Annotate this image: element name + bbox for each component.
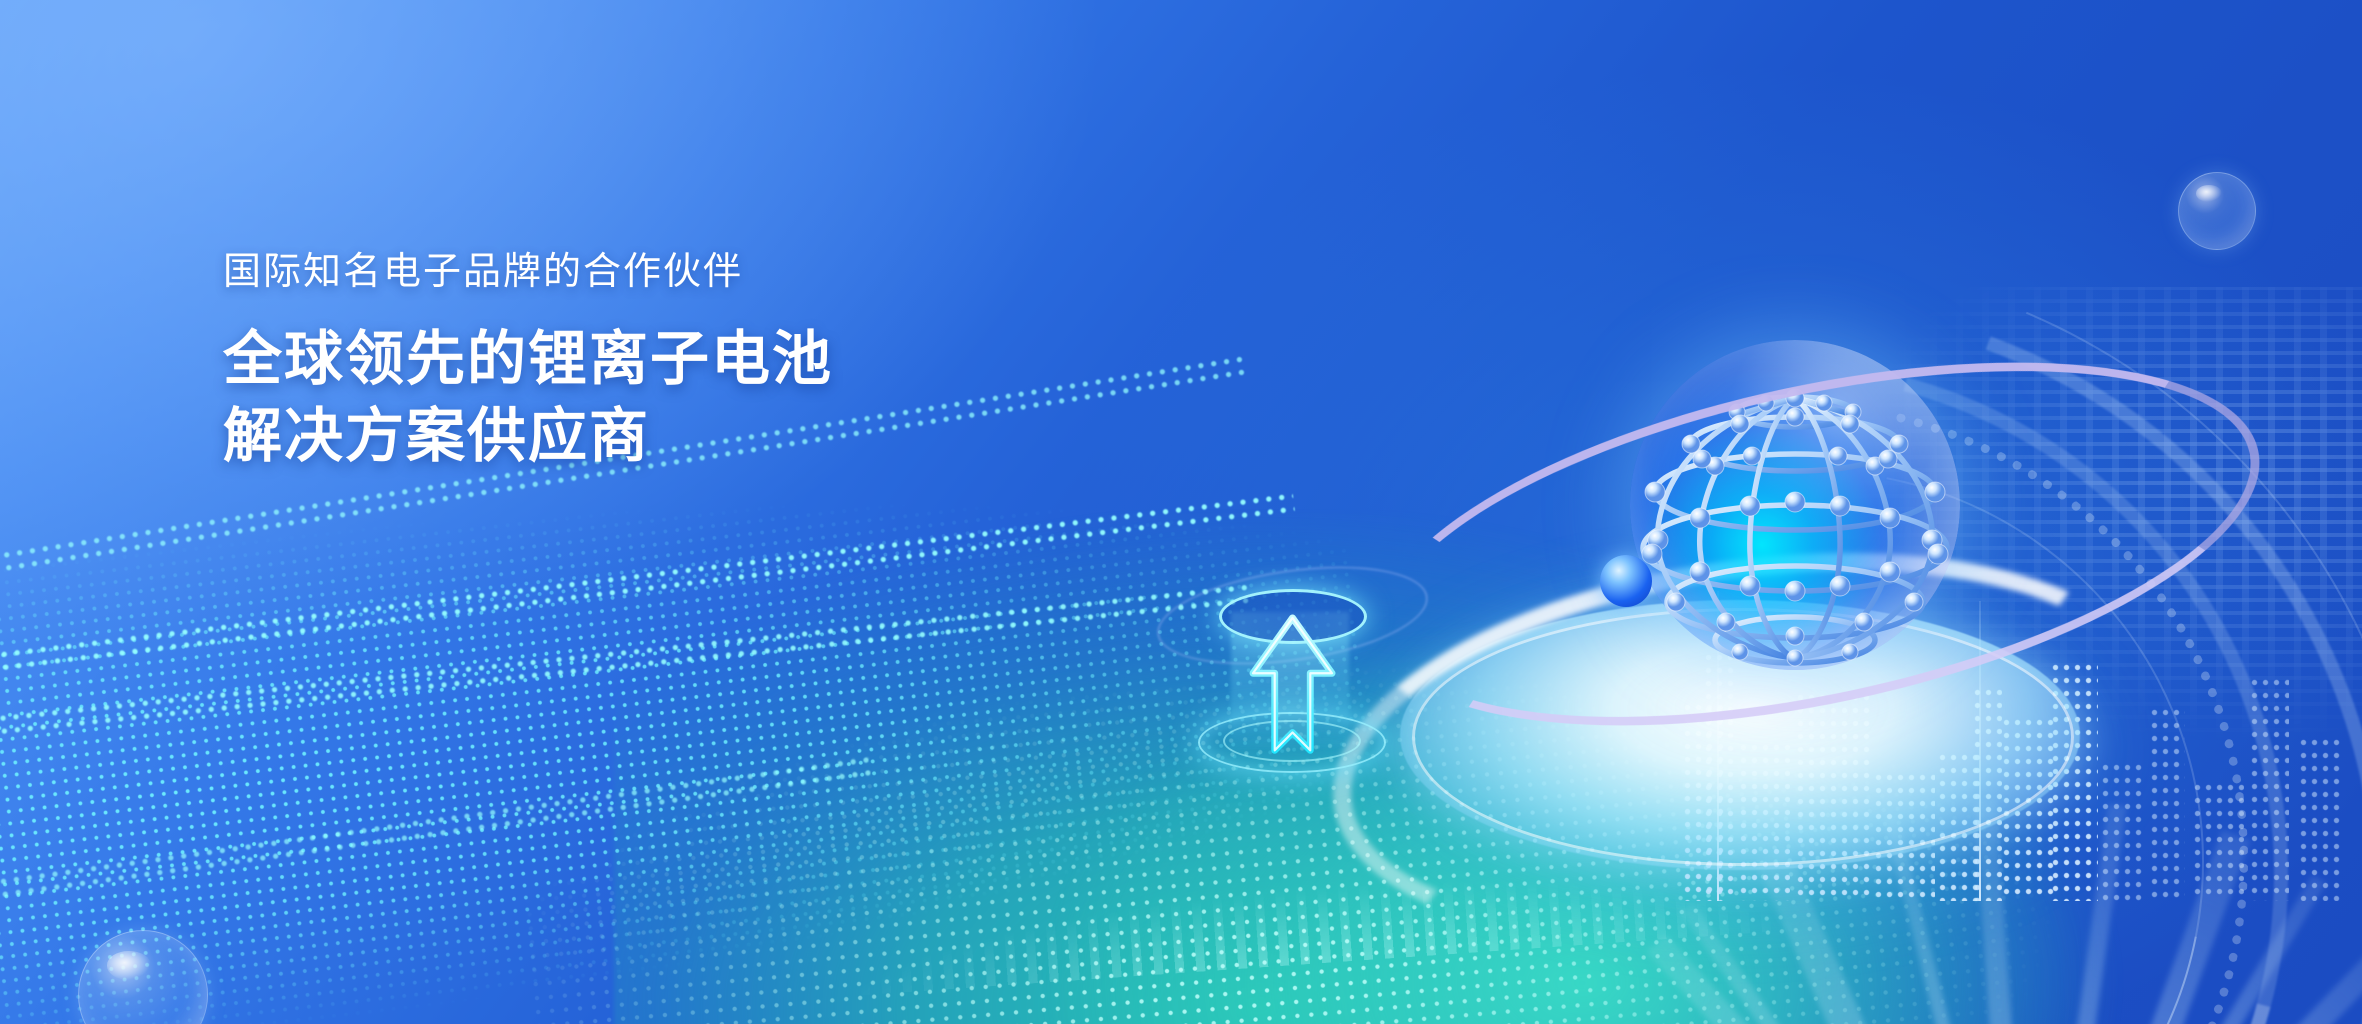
eyebrow-text: 国际知名电子品牌的合作伙伴: [223, 253, 833, 291]
headline-line-1: 全球领先的锂离子电池: [223, 321, 833, 398]
arrow-portal: [1185, 585, 1395, 775]
bubble-highlight: [2196, 185, 2222, 202]
headline-block: 全球领先的锂离子电池 解决方案供应商: [223, 321, 833, 474]
bubble-highlight: [107, 951, 151, 979]
headline-line-2: 解决方案供应商: [223, 398, 833, 475]
up-arrow-icon: [1240, 612, 1345, 760]
orbit-bead: [1600, 555, 1652, 607]
bubble-top-right: [2178, 172, 2256, 250]
hero-copy: 国际知名电子品牌的合作伙伴 全球领先的锂离子电池 解决方案供应商: [223, 253, 833, 474]
hero-banner: 国际知名电子品牌的合作伙伴 全球领先的锂离子电池 解决方案供应商: [0, 0, 2362, 1024]
